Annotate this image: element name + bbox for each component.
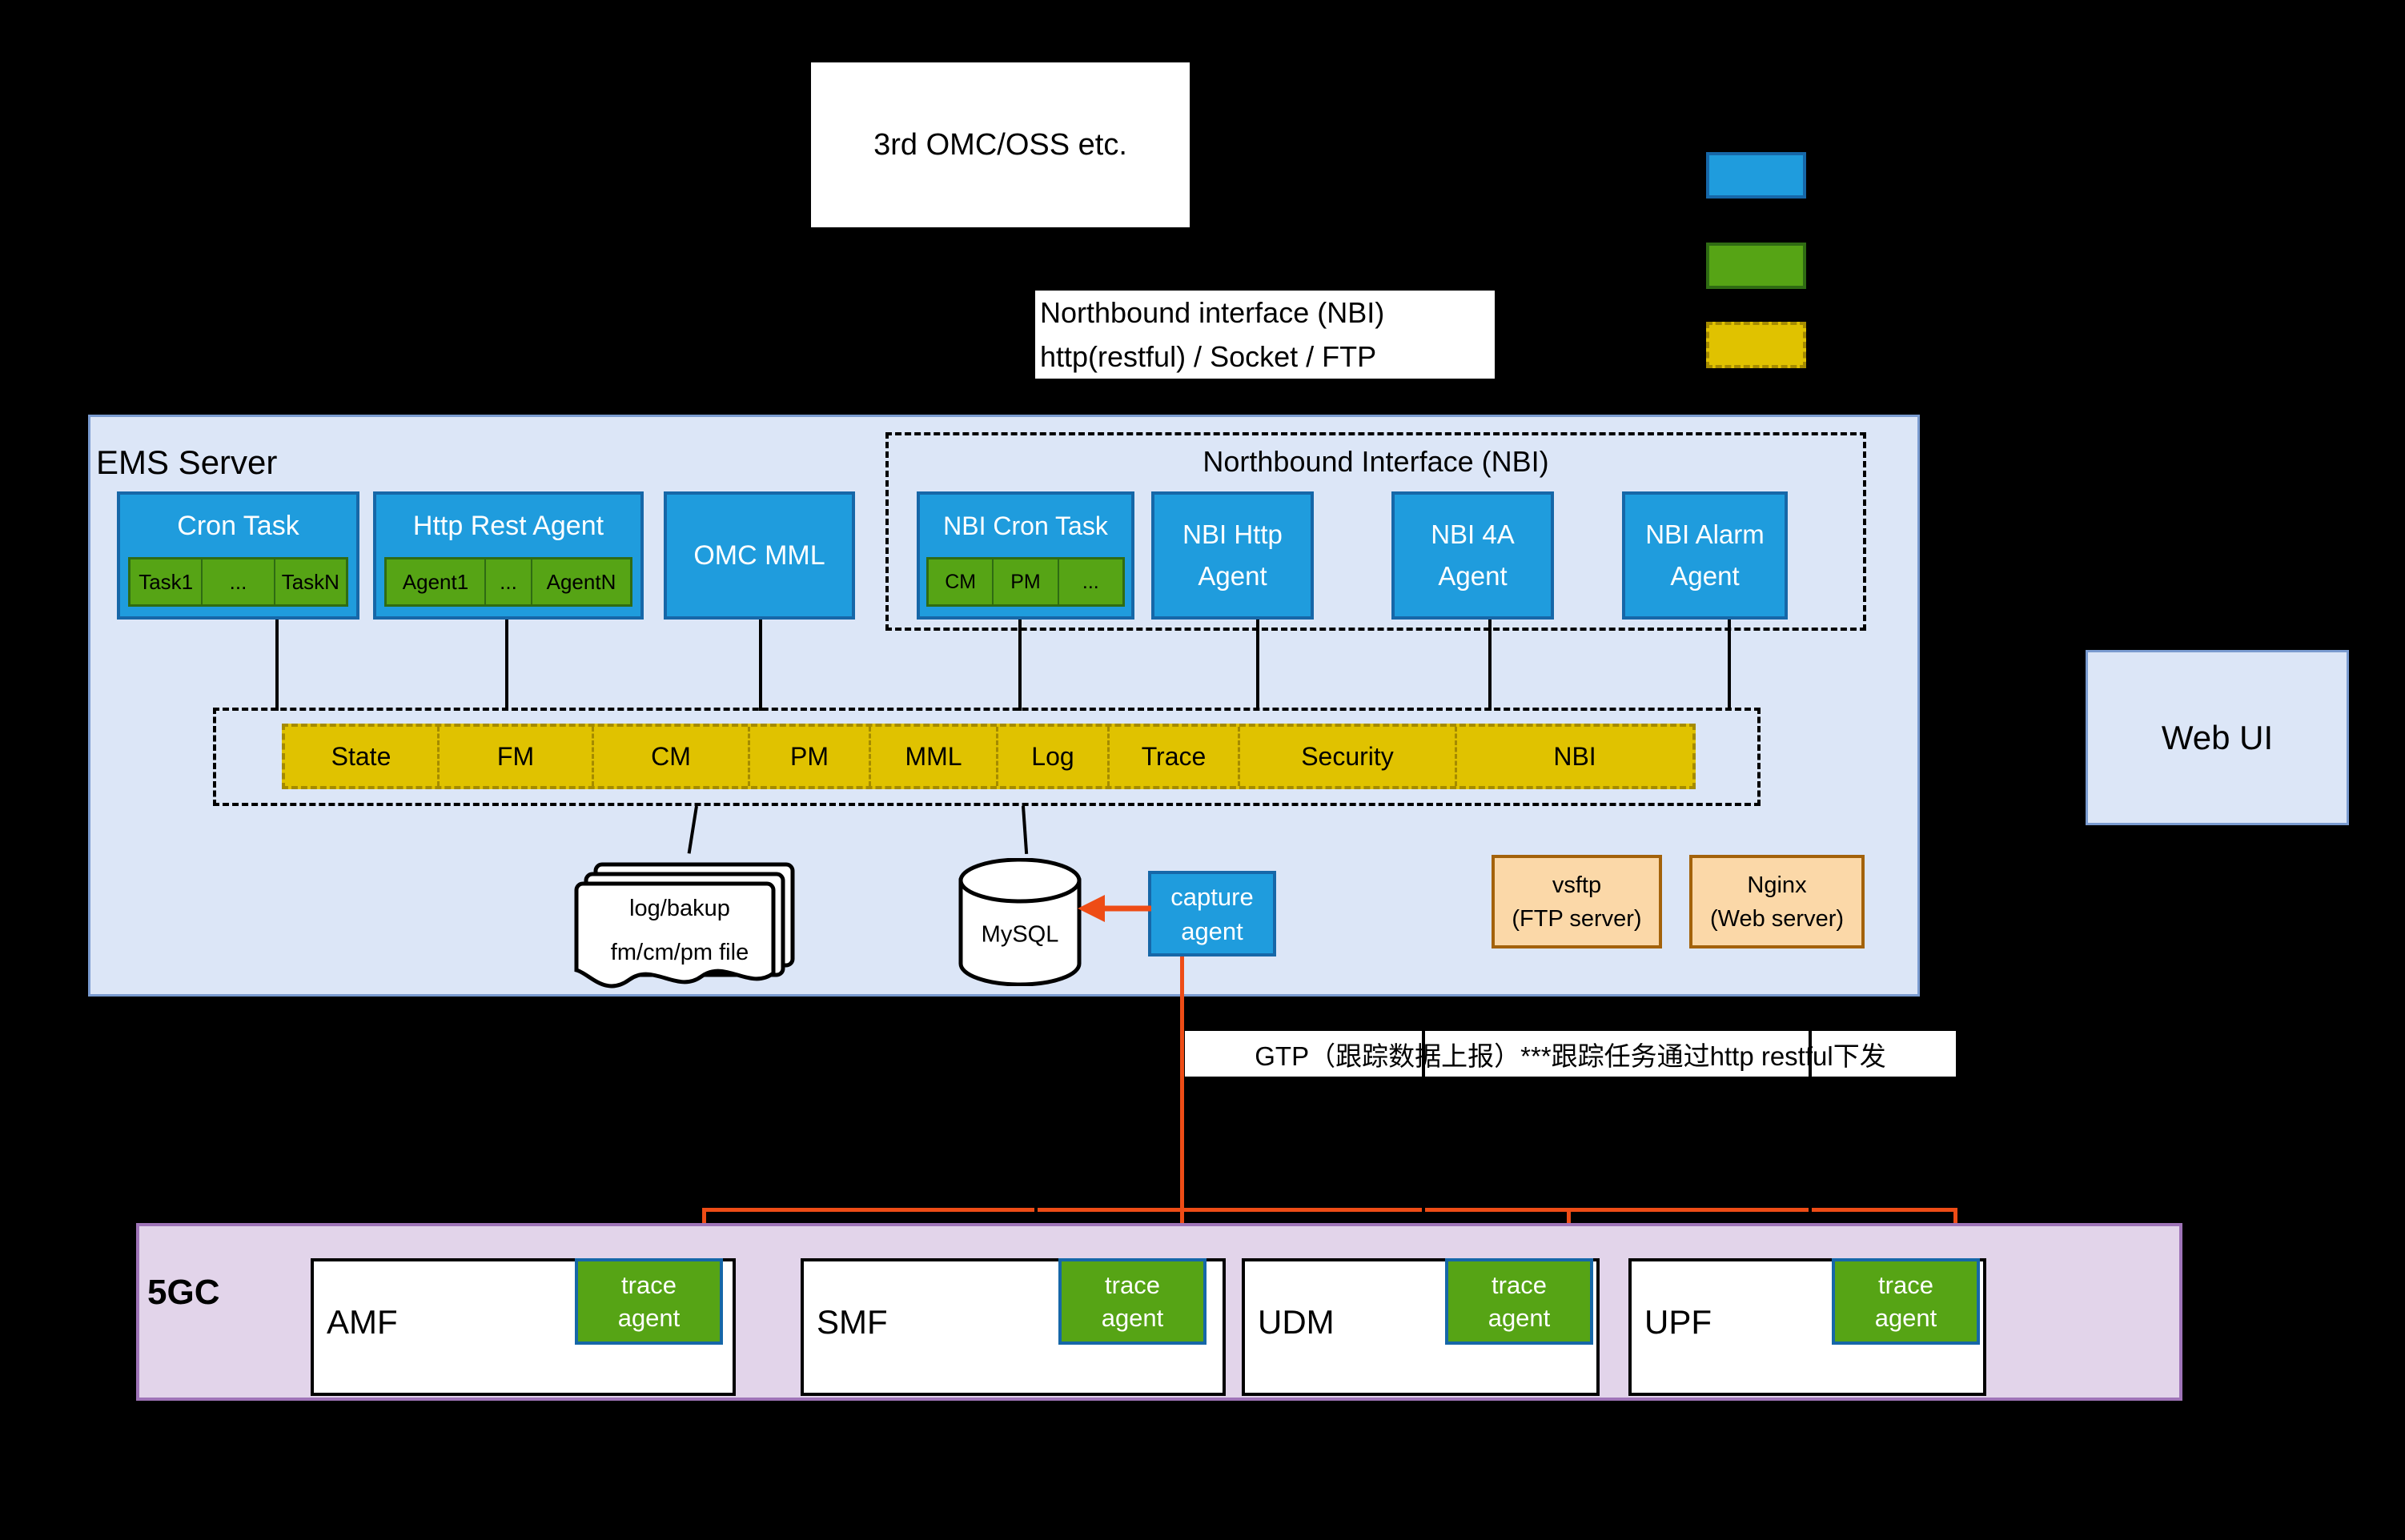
vsftp-line-1: vsftp — [1552, 868, 1601, 902]
vsftp-server-box[interactable]: vsftp (FTP server) — [1492, 855, 1662, 948]
component-nbi-alarm-agent-title2: Agent — [1670, 555, 1739, 597]
component-nbi-http-agent[interactable]: NBI Http Agent — [1151, 491, 1314, 620]
log-backup-labels: log/bakup fm/cm/pm file — [576, 887, 783, 975]
capture-agent-line-2: agent — [1181, 914, 1243, 948]
ems-server-title: EMS Server — [96, 443, 277, 482]
bus-segment-nbi[interactable]: NBI — [1457, 727, 1692, 786]
capture-agent-line-1: capture — [1170, 880, 1253, 914]
nbi-cron-task-cell[interactable]: CM — [929, 559, 994, 604]
component-nbi-cron-task[interactable]: NBI Cron Task CM PM ... — [917, 491, 1134, 620]
third-party-omc-oss-box: 3rd OMC/OSS etc. — [811, 62, 1190, 227]
bus-segment-security[interactable]: Security — [1240, 727, 1457, 786]
connector-nbicron-to-bus — [1018, 620, 1022, 711]
bus-segment-cm[interactable]: CM — [594, 727, 750, 786]
trace-agent-amf-line-2: agent — [618, 1301, 681, 1334]
service-bus: State FM CM PM MML Log Trace Security NB… — [282, 724, 1696, 789]
legend-green-swatch — [1706, 243, 1806, 289]
cron-task-cell[interactable]: Task1 — [130, 559, 203, 604]
vsftp-line-2: (FTP server) — [1512, 902, 1641, 936]
trace-agent-udm[interactable]: trace agent — [1445, 1258, 1593, 1345]
trace-agent-upf[interactable]: trace agent — [1832, 1258, 1980, 1345]
trace-agent-amf[interactable]: trace agent — [575, 1258, 723, 1345]
nf-label-smf: SMF — [817, 1303, 888, 1341]
nf-label-upf: UPF — [1644, 1303, 1712, 1341]
nbi-group-title: Northbound Interface (NBI) — [885, 442, 1866, 482]
connector-nbi4a-to-bus — [1488, 620, 1492, 711]
nbi-cron-task-cell[interactable]: PM — [994, 559, 1058, 604]
component-nbi-http-agent-title2: Agent — [1198, 555, 1267, 597]
legend-yellow-swatch — [1706, 322, 1806, 368]
component-cron-task-title: Cron Task — [120, 495, 356, 557]
arrow-capture-agent-to-mysql — [1073, 888, 1153, 928]
component-cron-task[interactable]: Cron Task Task1 ... TaskN — [117, 491, 359, 620]
nf-label-udm: UDM — [1258, 1303, 1335, 1341]
nbi-cron-task-cell[interactable]: ... — [1059, 559, 1122, 604]
trace-agent-smf-line-1: trace — [1105, 1269, 1160, 1301]
trace-agent-udm-line-2: agent — [1488, 1301, 1551, 1334]
nginx-server-box[interactable]: Nginx (Web server) — [1689, 855, 1865, 948]
component-nbi-cron-task-title: NBI Cron Task — [920, 495, 1131, 557]
connector-omcmml-to-bus — [759, 620, 762, 711]
component-nbi-4a-agent[interactable]: NBI 4A Agent — [1391, 491, 1554, 620]
third-party-omc-oss-label: 3rd OMC/OSS etc. — [873, 128, 1127, 162]
trace-agent-upf-line-1: trace — [1878, 1269, 1933, 1301]
gtp-annotation-label: GTP（跟踪数据上报）***跟踪任务通过http restful下发 — [1255, 1035, 1885, 1073]
nbi-note-line-1: Northbound interface (NBI) — [1040, 291, 1495, 335]
component-omc-mml-title: OMC MML — [693, 540, 825, 571]
connector-nbinote-to-ems — [999, 379, 1002, 419]
legend-blue-swatch — [1706, 152, 1806, 199]
component-nbi-alarm-agent-title: NBI Alarm — [1645, 514, 1765, 555]
bus-segment-state[interactable]: State — [285, 727, 440, 786]
mysql-label: MySQL — [956, 922, 1084, 948]
nbi-note-line-2: http(restful) / Socket / FTP — [1040, 335, 1495, 379]
trace-agent-smf[interactable]: trace agent — [1058, 1258, 1207, 1345]
log-backup-line-1: log/bakup — [576, 887, 783, 931]
diagram-canvas: 3rd OMC/OSS etc. Northbound interface (N… — [0, 0, 2405, 1540]
trace-agent-amf-line-1: trace — [621, 1269, 677, 1301]
mysql-database: MySQL — [956, 858, 1084, 986]
bus-segment-trace[interactable]: Trace — [1110, 727, 1240, 786]
web-ui-label: Web UI — [2162, 719, 2273, 757]
connector-nbialarm-to-bus — [1728, 620, 1731, 711]
capture-agent-box[interactable]: capture agent — [1148, 871, 1276, 956]
log-backup-file-stack: log/bakup fm/cm/pm file — [570, 850, 818, 994]
trace-agent-smf-line-2: agent — [1102, 1301, 1164, 1334]
connector-omcoss-to-nbinote — [999, 227, 1002, 291]
component-http-rest-agent-title: Http Rest Agent — [376, 495, 640, 557]
5gc-title: 5GC — [147, 1273, 219, 1313]
http-rest-agent-cell[interactable]: Agent1 — [387, 559, 486, 604]
log-backup-line-2: fm/cm/pm file — [576, 931, 783, 975]
connector-nbihttp-to-bus — [1256, 620, 1259, 711]
component-nbi-4a-agent-title2: Agent — [1438, 555, 1507, 597]
component-omc-mml[interactable]: OMC MML — [664, 491, 855, 620]
http-rest-agent-subitems: Agent1 ... AgentN — [384, 557, 632, 607]
component-http-rest-agent[interactable]: Http Rest Agent Agent1 ... AgentN — [373, 491, 644, 620]
trace-agent-upf-line-2: agent — [1875, 1301, 1937, 1334]
cron-task-cell[interactable]: ... — [203, 559, 275, 604]
nbi-protocol-note: Northbound interface (NBI) http(restful)… — [1035, 291, 1495, 379]
trace-agent-udm-line-1: trace — [1492, 1269, 1547, 1301]
component-nbi-alarm-agent[interactable]: NBI Alarm Agent — [1622, 491, 1788, 620]
cron-task-cell[interactable]: TaskN — [275, 559, 346, 604]
gtp-annotation-box: GTP（跟踪数据上报）***跟踪任务通过http restful下发 — [1185, 1031, 1956, 1077]
connector-crontask-to-bus — [275, 620, 279, 711]
cron-task-subitems: Task1 ... TaskN — [128, 557, 348, 607]
web-ui-box[interactable]: Web UI — [2086, 650, 2349, 825]
nf-label-amf: AMF — [327, 1303, 398, 1341]
orange-trunk-horizontal — [702, 1208, 1957, 1212]
bus-segment-mml[interactable]: MML — [871, 727, 998, 786]
http-rest-agent-cell[interactable]: ... — [486, 559, 532, 604]
component-nbi-http-agent-title: NBI Http — [1182, 514, 1283, 555]
connector-httprest-to-bus — [505, 620, 508, 711]
http-rest-agent-cell[interactable]: AgentN — [532, 559, 630, 604]
nginx-line-1: Nginx — [1747, 868, 1806, 902]
nginx-line-2: (Web server) — [1710, 902, 1844, 936]
nbi-cron-task-subitems: CM PM ... — [926, 557, 1125, 607]
component-nbi-4a-agent-title: NBI 4A — [1431, 514, 1515, 555]
bus-segment-pm[interactable]: PM — [750, 727, 871, 786]
bus-segment-fm[interactable]: FM — [440, 727, 594, 786]
bus-segment-log[interactable]: Log — [998, 727, 1110, 786]
